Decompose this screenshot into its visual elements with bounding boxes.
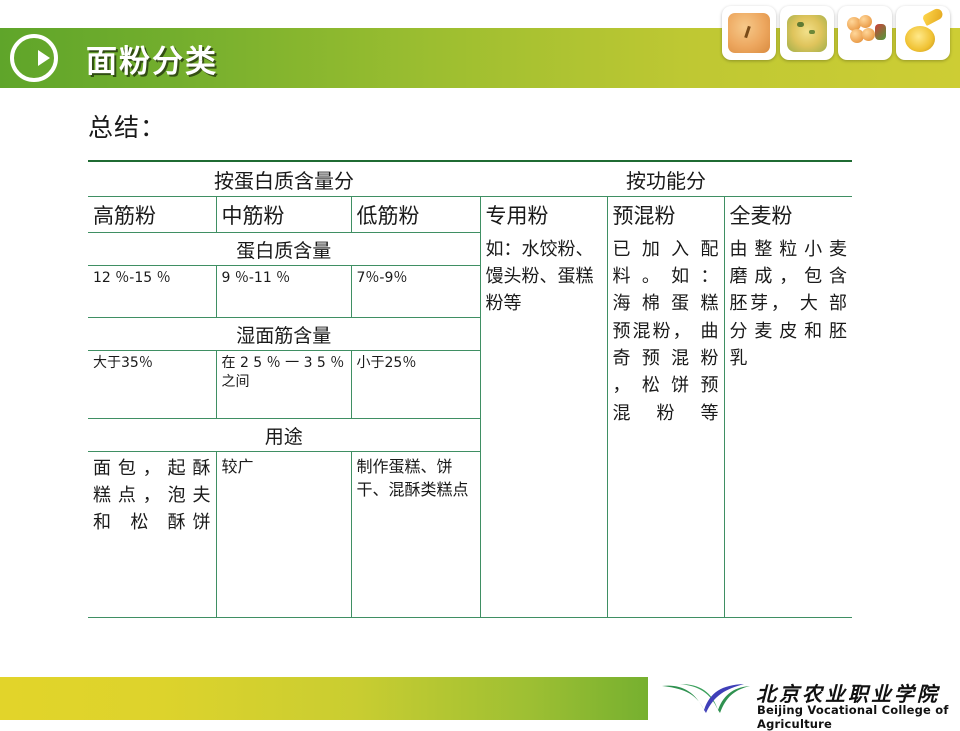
w-shape-logo-icon [660, 680, 752, 718]
protein-value-high: 12 ％-15 ％ [88, 266, 216, 318]
description-special-flour: 如：水饺粉、馒头粉、蛋糕粉等 [480, 233, 607, 618]
column-header-low-gluten: 低筋粉 [351, 197, 480, 233]
section-label-protein-content: 蛋白质含量 [88, 233, 480, 266]
bread-slice-thumbnail [722, 6, 776, 60]
column-header-high-gluten: 高筋粉 [88, 197, 216, 233]
yellow-batter-bowl-thumbnail [896, 6, 950, 60]
institution-logo: 北京农业职业学院 Beijing Vocational College of A… [660, 678, 952, 720]
flour-classification-table: 按蛋白质含量分 按功能分 高筋粉 中筋粉 低筋粉 专用粉 预混粉 全麦粉 蛋白质… [88, 160, 852, 618]
table-column-header-row: 高筋粉 中筋粉 低筋粉 专用粉 预混粉 全麦粉 [88, 197, 852, 233]
column-header-premix-flour: 预混粉 [607, 197, 724, 233]
gluten-value-medium: 在 2 5 ％ 一 3 5 ％之间 [216, 351, 351, 419]
arrow-right-circle-icon [8, 32, 60, 84]
description-wholewheat-flour: 由 整 粒 小 麦 磨 成 ， 包 含胚芽， 大 部 分 麦 皮 和 胚乳 [724, 233, 852, 618]
column-header-medium-gluten: 中筋粉 [216, 197, 351, 233]
gluten-value-high: 大于35％ [88, 351, 216, 419]
fried-dough-balls-thumbnail [838, 6, 892, 60]
table-section-protein-row: 蛋白质含量 如：水饺粉、馒头粉、蛋糕粉等 已 加 入 配 料 。 如 ： 海 棉… [88, 233, 852, 266]
table-group-header-row: 按蛋白质含量分 按功能分 [88, 161, 852, 197]
column-header-special-flour: 专用粉 [480, 197, 607, 233]
group-header-protein: 按蛋白质含量分 [88, 161, 480, 197]
column-header-wholewheat-flour: 全麦粉 [724, 197, 852, 233]
page-title: 面粉分类 [86, 32, 218, 84]
description-premix-flour: 已 加 入 配 料 。 如 ： 海 棉 蛋 糕 预混粉， 曲 奇 预 混 粉 ，… [607, 233, 724, 618]
section-label-wet-gluten: 湿面筋含量 [88, 318, 480, 351]
protein-value-low: 7％-9％ [351, 266, 480, 318]
slide-root: 面粉分类 总结： [0, 0, 960, 720]
logo-english-name: Beijing Vocational College of Agricultur… [757, 703, 952, 731]
protein-value-medium: 9 ％-11 ％ [216, 266, 351, 318]
usage-value-medium: 较广 [216, 452, 351, 618]
header-thumbnail-strip [722, 6, 950, 60]
usage-value-low: 制作蛋糕、饼干、混酥类糕点 [351, 452, 480, 618]
muffin-thumbnail [780, 6, 834, 60]
slide-footer-bar [0, 677, 648, 720]
gluten-value-low: 小于25％ [351, 351, 480, 419]
flour-classification-table-wrap: 按蛋白质含量分 按功能分 高筋粉 中筋粉 低筋粉 专用粉 预混粉 全麦粉 蛋白质… [88, 160, 852, 666]
section-label-usage: 用途 [88, 419, 480, 452]
group-header-function: 按功能分 [480, 161, 852, 197]
summary-label: 总结： [88, 108, 166, 144]
slide-header-bar: 面粉分类 [0, 28, 960, 88]
usage-value-high: 面 包 ， 起 酥 糕 点 ， 泡 夫 和 松 酥饼 [88, 452, 216, 618]
